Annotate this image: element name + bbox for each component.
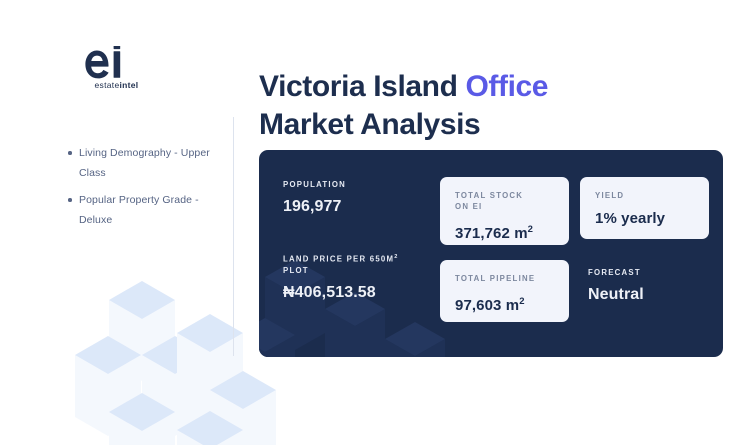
vertical-divider [233,117,234,356]
stat-total-stock-label: TOTAL STOCKON EI [455,190,554,212]
stat-total-stock-label-line1: TOTAL STOCK [455,191,523,200]
slide-root: estateintel Living Demography - Upper Cl… [0,0,743,445]
stat-total-stock-value-sup: 2 [528,224,533,235]
stat-yield-label: YIELD [595,190,694,201]
list-item: Popular Property Grade - Deluxe [68,190,220,230]
page-title: Victoria Island Office Market Analysis [259,68,659,144]
brand-wordmark: estateintel [0,81,233,90]
list-item: Living Demography - Upper Class [68,143,220,183]
stat-population-value: 196,977 [283,197,463,217]
market-stats-card: POPULATION 196,977 LAND PRICE PER 650M2P… [259,150,723,357]
page-title-line1-plain: Victoria Island [259,70,465,103]
stat-total-pipeline-label: TOTAL PIPELINE [455,273,554,284]
stat-forecast-label: FORECAST [588,267,718,278]
stat-total-stock-value: 371,762 m2 [455,220,554,243]
stat-yield: YIELD 1% yearly [580,177,709,239]
key-facts-list: Living Demography - Upper Class Popular … [68,143,220,237]
stat-total-stock: TOTAL STOCKON EI 371,762 m2 [440,177,569,245]
stat-yield-value: 1% yearly [595,209,694,228]
ei-monogram-icon [85,46,149,80]
stat-total-pipeline-value: 97,603 m2 [455,292,554,315]
stat-total-stock-label-line2: ON EI [455,202,482,211]
stat-total-pipeline: TOTAL PIPELINE 97,603 m2 [440,260,569,322]
brand-logo: estateintel [0,46,233,90]
stat-forecast-value: Neutral [588,285,718,305]
sidebar: estateintel Living Demography - Upper Cl… [0,0,233,445]
stat-forecast: FORECAST Neutral [588,267,718,305]
stat-total-pipeline-value-sup: 2 [519,296,524,307]
page-title-accent: Office [465,70,548,103]
stat-total-stock-value-text: 371,762 m [455,225,528,242]
stat-land-price-label-line2: PLOT [283,266,309,275]
wordmark-estate: estate [95,80,120,90]
stat-total-pipeline-value-text: 97,603 m [455,297,519,314]
stat-population: POPULATION 196,977 [283,179,463,217]
stat-land-price-label-line1: LAND PRICE PER 650M [283,255,394,264]
stat-population-label: POPULATION [283,179,463,190]
wordmark-intel: intel [119,80,138,90]
page-title-line2: Market Analysis [259,108,480,141]
stat-land-price-label-sup: 2 [394,254,397,260]
